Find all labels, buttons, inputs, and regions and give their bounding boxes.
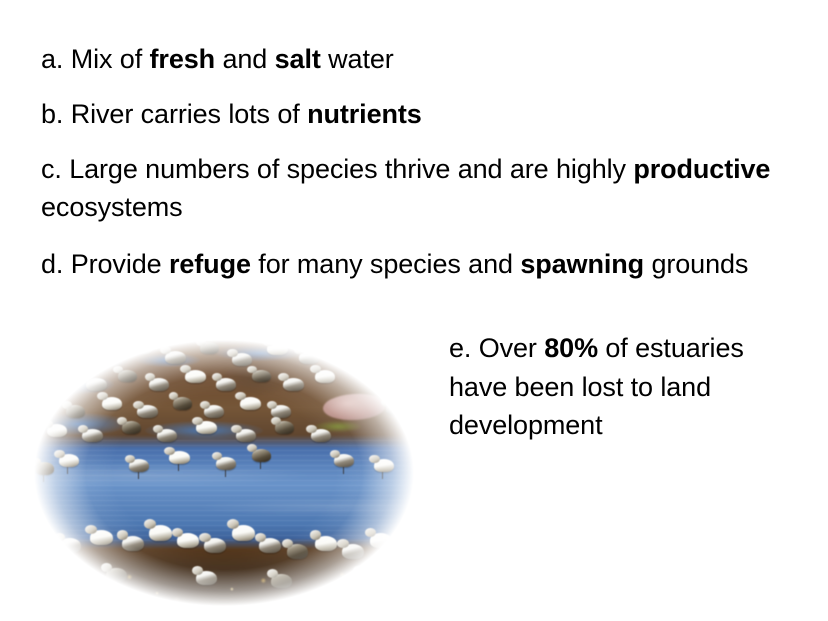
shorebird	[149, 378, 169, 391]
shorebird	[283, 378, 304, 391]
bird-legs	[382, 472, 383, 479]
shorebird-wading	[252, 449, 271, 462]
bird-head	[358, 349, 368, 357]
bird-head	[192, 417, 203, 425]
bullet-c-text-2: ecosystems	[41, 192, 183, 222]
shorebird	[31, 533, 53, 548]
bird-head	[129, 338, 139, 345]
bullet-a-bold-fresh: fresh	[150, 44, 216, 74]
shorebird	[275, 421, 294, 434]
bird-head	[247, 444, 257, 452]
bird-head	[97, 392, 107, 400]
shorebird	[157, 429, 177, 442]
bird-head	[81, 373, 92, 381]
bird-head	[365, 528, 376, 537]
shorebird-wading	[374, 459, 394, 472]
bullet-a-text-1: a. Mix of	[41, 44, 150, 74]
shorebird	[165, 351, 186, 364]
shorebird	[149, 525, 172, 541]
bird-head	[294, 346, 304, 354]
bird-legs	[178, 464, 179, 471]
bird-legs	[138, 472, 139, 479]
bird-head	[278, 373, 289, 381]
bird-head	[267, 569, 278, 578]
bird-head	[27, 528, 38, 537]
shorebird	[200, 342, 219, 354]
bird-head	[282, 539, 293, 548]
shorebird	[236, 429, 256, 442]
shorebird	[216, 378, 236, 391]
shorebird	[252, 370, 271, 382]
shorebird	[386, 402, 405, 415]
bird-head	[42, 558, 53, 567]
shorebird	[271, 574, 292, 588]
bird-head	[231, 425, 241, 433]
bird-head	[247, 366, 257, 373]
bird-head	[78, 425, 89, 433]
shorebird	[315, 370, 335, 383]
bird-head	[196, 338, 206, 345]
shorebird	[315, 536, 337, 551]
bird-head	[145, 373, 155, 381]
bird-head	[330, 450, 340, 458]
bird-head	[393, 536, 404, 545]
bullet-d-bold-refuge: refuge	[169, 249, 251, 279]
bird-head	[310, 365, 320, 373]
shorebird	[51, 372, 71, 385]
bird-legs	[225, 470, 226, 477]
shorebird	[137, 405, 158, 418]
bird-head	[385, 341, 395, 348]
bullet-item-c: c. Large numbers of species thrive and a…	[41, 150, 806, 226]
shorebird	[389, 345, 408, 357]
shorebird	[330, 342, 349, 354]
shorebird	[370, 533, 392, 548]
bird-head	[144, 519, 156, 529]
bullet-item-d: d. Provide refuge for many species and s…	[41, 245, 811, 283]
bullet-item-b: b. River carries lots of nutrients	[41, 95, 801, 133]
bird-head	[212, 452, 222, 460]
bird-head	[326, 338, 336, 345]
shorebird-wading	[59, 454, 79, 467]
shorebird	[59, 538, 81, 553]
shorebird-wading	[216, 457, 236, 470]
bird-head	[133, 401, 144, 409]
bird-head	[117, 417, 127, 425]
shorebird	[122, 421, 141, 434]
bird-head	[306, 425, 316, 433]
bird-head	[180, 365, 191, 373]
bird-head	[66, 341, 76, 348]
bird-legs	[343, 467, 344, 474]
bird-head	[369, 371, 379, 379]
bird-head	[46, 368, 56, 376]
bird-head	[199, 533, 210, 542]
bird-legs	[260, 462, 261, 469]
estuary-shorebirds-photo	[20, 330, 428, 616]
bird-head	[54, 450, 64, 458]
shorebird	[122, 536, 144, 551]
shorebird	[362, 353, 382, 366]
shorebird	[47, 424, 67, 437]
bird-head	[153, 425, 163, 433]
bird-head	[125, 455, 135, 463]
bird-head	[397, 363, 406, 370]
bullet-e-text-1: e. Over	[449, 333, 544, 363]
bird-head	[101, 563, 112, 572]
shorebird	[232, 525, 255, 541]
shorebird	[358, 571, 379, 585]
shorebird	[47, 563, 69, 577]
shorebird	[196, 571, 217, 585]
bullet-d-bold-spawning: spawning	[520, 249, 644, 279]
bullet-a-text-3: water	[321, 44, 394, 74]
bird-head	[97, 349, 107, 357]
shorebird	[374, 375, 394, 388]
bird-head	[369, 455, 379, 463]
shorebird	[267, 342, 288, 355]
photo-frame	[20, 330, 428, 616]
shorebird	[35, 400, 55, 413]
shorebird	[133, 342, 152, 354]
bird-head	[42, 420, 52, 428]
shorebird-wading	[169, 451, 190, 464]
shorebird	[259, 538, 281, 553]
bullet-a-text-2: and	[215, 44, 275, 74]
bullet-d-text-1: d. Provide	[41, 249, 169, 279]
shorebird	[102, 353, 122, 366]
bird-head	[172, 528, 183, 537]
bird-head	[310, 530, 321, 539]
bird-head	[164, 447, 175, 455]
bird-head	[271, 417, 281, 425]
bird-head	[255, 533, 266, 542]
shorebird	[102, 397, 122, 410]
bird-head	[200, 401, 210, 409]
shorebird	[39, 351, 59, 364]
shorebird	[287, 544, 308, 559]
bird-head	[263, 338, 274, 346]
bird-head	[117, 530, 128, 539]
shorebird	[196, 421, 217, 434]
bird-head	[337, 539, 348, 548]
shorebird	[86, 378, 107, 391]
bird-legs	[67, 467, 68, 474]
shorebird	[90, 530, 113, 545]
shorebird	[397, 541, 418, 556]
shorebird	[299, 351, 319, 364]
shorebird	[177, 533, 199, 548]
shorebird	[204, 538, 226, 553]
bird-head	[85, 525, 97, 534]
shorebird-wading	[35, 462, 54, 475]
shorebird	[70, 345, 89, 357]
bullet-b-text-1: b. River carries lots of	[41, 99, 307, 129]
bullet-d-text-2: for many species and	[251, 249, 520, 279]
shorebird	[66, 405, 85, 418]
bird-head	[267, 401, 277, 409]
slide-canvas: a. Mix of fresh and salt water b. River …	[0, 0, 828, 621]
bird-legs	[43, 475, 44, 482]
shorebird-wading	[334, 454, 354, 467]
bullet-item-a: a. Mix of fresh and salt water	[41, 40, 801, 78]
shorebird-wading	[129, 459, 149, 472]
photo-image	[27, 337, 421, 609]
bird-head	[34, 346, 44, 354]
shorebird	[232, 353, 252, 366]
bullet-d-text-3: grounds	[644, 249, 748, 279]
bird-head	[381, 398, 391, 406]
bird-head	[192, 566, 203, 575]
bird-head	[353, 566, 364, 575]
bird-head	[227, 349, 237, 357]
bird-head	[54, 533, 65, 542]
bird-head	[160, 346, 171, 354]
shorebird	[106, 568, 127, 582]
bird-head	[62, 401, 72, 409]
shorebird	[118, 370, 137, 382]
bullet-b-bold-nutrients: nutrients	[307, 99, 422, 129]
bullet-a-bold-salt: salt	[275, 44, 321, 74]
bird-head	[227, 519, 239, 529]
bird-head	[169, 392, 179, 400]
shorebird	[204, 405, 224, 418]
shorebird	[342, 544, 364, 559]
bullet-e-bold-80-percent: 80%	[544, 333, 598, 363]
shorebird	[311, 429, 331, 442]
shorebird	[82, 429, 103, 442]
bullet-c-bold-productive: productive	[633, 154, 770, 184]
bird-head	[30, 395, 40, 403]
shorebird	[185, 370, 206, 383]
bullet-c-text-1: c. Large numbers of species thrive and a…	[41, 154, 633, 184]
bird-head	[31, 458, 41, 466]
shorebird	[240, 397, 261, 410]
bird-head	[212, 373, 222, 381]
shorebird	[173, 397, 192, 410]
bullet-item-e: e. Over 80% of estuaries have been lost …	[449, 329, 779, 445]
bird-head	[235, 392, 246, 400]
bird-head	[113, 366, 123, 373]
shorebird	[401, 367, 419, 379]
